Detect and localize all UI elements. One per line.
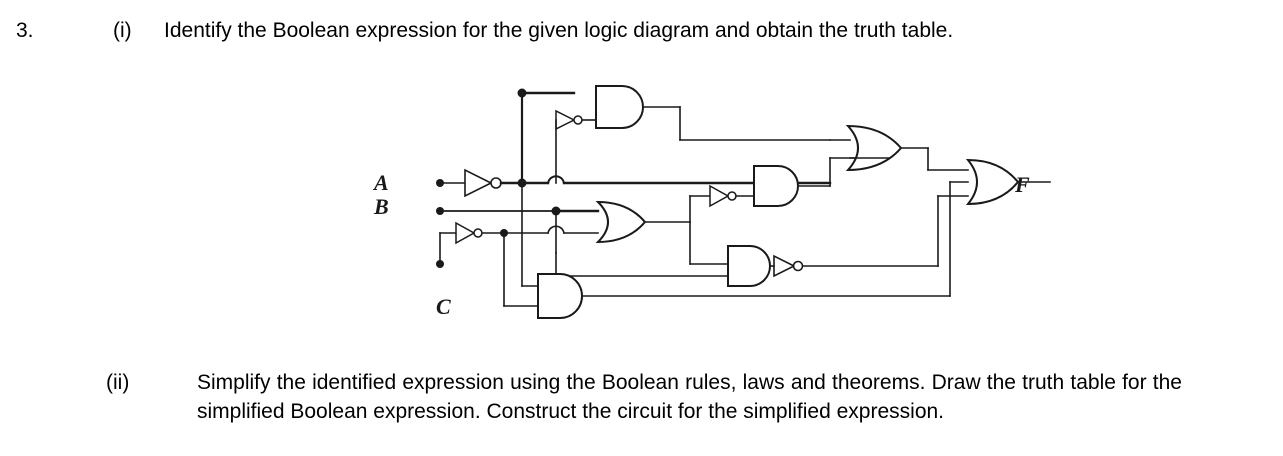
question-part-ii-text: Simplify the identified expression using… <box>197 368 1182 426</box>
not-gate-mid-bubble <box>728 192 736 200</box>
or-gate-final <box>968 160 1018 204</box>
and-gate-low <box>728 246 770 286</box>
question-number: 3. <box>16 18 34 44</box>
not-gate-a-bubble <box>491 178 501 188</box>
question-part-i-marker: (i) <box>113 18 132 44</box>
not-gate-top-bubble <box>574 116 582 124</box>
logic-circuit-diagram: A B C F <box>350 78 1090 338</box>
question-part-i-text: Identify the Boolean expression for the … <box>164 18 1224 44</box>
or-gate-mid <box>598 202 645 242</box>
circuit-svg: A B C F <box>350 78 1090 338</box>
and-gate-bottom <box>538 274 582 318</box>
not-gate-mid-body <box>710 186 728 206</box>
or-gate-right <box>848 126 901 170</box>
not-gate-low-body <box>774 256 794 276</box>
input-label-C: C <box>436 294 451 319</box>
not-gate-c-bubble <box>474 229 482 237</box>
not-gate-top-body <box>556 111 574 129</box>
not-gate-c-body <box>456 223 474 243</box>
and-gate-mid <box>754 166 798 206</box>
input-label-A: A <box>372 170 389 195</box>
and-gate-top <box>596 86 643 128</box>
not-gate-low-bubble <box>794 262 803 271</box>
question-part-ii-marker: (ii) <box>106 368 129 397</box>
not-gate-a-body <box>465 170 491 196</box>
input-label-B: B <box>373 194 389 219</box>
document-page: 3. (i) Identify the Boolean expression f… <box>0 0 1283 456</box>
